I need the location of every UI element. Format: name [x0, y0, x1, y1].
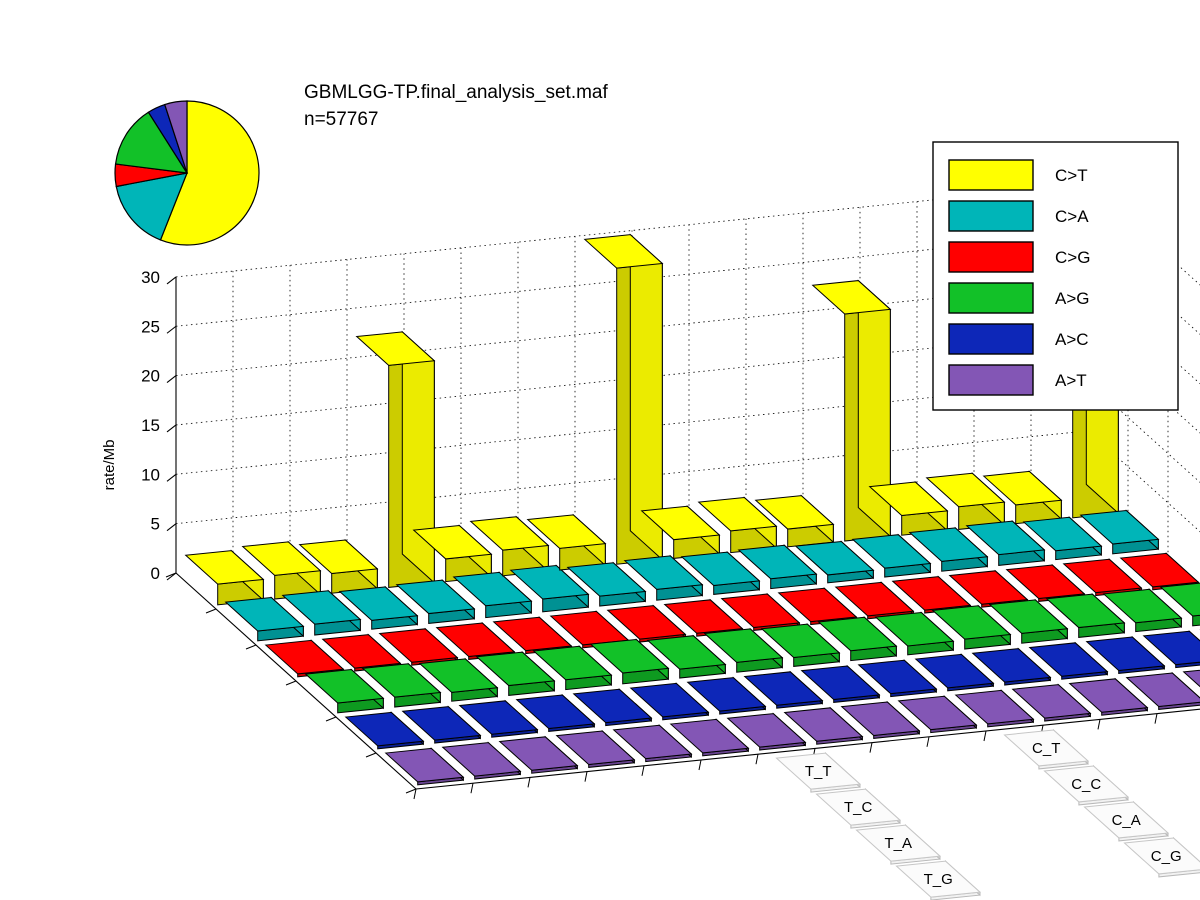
y-tick-label: 5 [151, 515, 160, 534]
context-label: T_T [805, 763, 832, 780]
legend-label: A>C [1055, 330, 1089, 349]
legend-swatch [949, 324, 1033, 354]
y-tick-label: 15 [141, 416, 160, 435]
legend-label: A>T [1055, 371, 1087, 390]
legend-label: C>T [1055, 166, 1088, 185]
context-tile-C_T: C_T [1004, 730, 1087, 769]
legend-swatch [949, 365, 1033, 395]
bar-C-to-T-A_G [813, 281, 891, 541]
y-tick-label: 20 [141, 367, 160, 386]
context-label: T_A [884, 835, 912, 852]
legend-swatch [949, 201, 1033, 231]
figure-subtitle: n=57767 [304, 109, 379, 130]
bar-C-to-T-T_G [357, 332, 435, 588]
legend-box: C>TC>AC>GA>GA>CA>T [933, 142, 1178, 410]
legend-label: C>A [1055, 207, 1089, 226]
context-tile-T_A: T_A [856, 825, 939, 864]
legend-label: A>G [1055, 289, 1090, 308]
mutation-spectrum-figure: 051015202530rate/Mb T_TT_CT_AT_GC_TC_CC_… [0, 0, 1200, 900]
context-label: C_A [1112, 812, 1141, 829]
figure-title: GBMLGG-TP.final_analysis_set.maf [304, 82, 608, 103]
context-tile-C_G: C_G [1124, 838, 1200, 877]
context-label: C_G [1151, 848, 1182, 865]
legend-swatch [949, 160, 1033, 190]
y-tick-label: 10 [141, 465, 160, 484]
y-tick-label: 30 [141, 268, 160, 287]
context-label: C_C [1071, 776, 1101, 793]
legend-label: C>G [1055, 248, 1090, 267]
context-tile-T_T: T_T [776, 753, 859, 792]
context-tile-T_G: T_G [896, 861, 979, 900]
y-tick-label: 0 [151, 564, 160, 583]
legend-swatch [949, 283, 1033, 313]
legend-swatch [949, 242, 1033, 272]
y-axis-title: rate/Mb [101, 440, 118, 491]
title-block: GBMLGG-TP.final_analysis_set.maf n=57767 [304, 82, 608, 130]
context-tile-C_C: C_C [1044, 766, 1127, 805]
context-label: C_T [1032, 740, 1060, 757]
bar-C-to-T-T_T [186, 551, 264, 605]
context-label: T_G [924, 871, 953, 888]
y-tick-label: 25 [141, 317, 160, 336]
context-tile-T_C: T_C [816, 789, 899, 828]
context-tile-C_A: C_A [1084, 802, 1167, 841]
figure-canvas: 051015202530rate/Mb T_TT_CT_AT_GC_TC_CC_… [0, 0, 1200, 900]
context-label: T_C [844, 799, 873, 816]
pie-chart [115, 101, 259, 245]
